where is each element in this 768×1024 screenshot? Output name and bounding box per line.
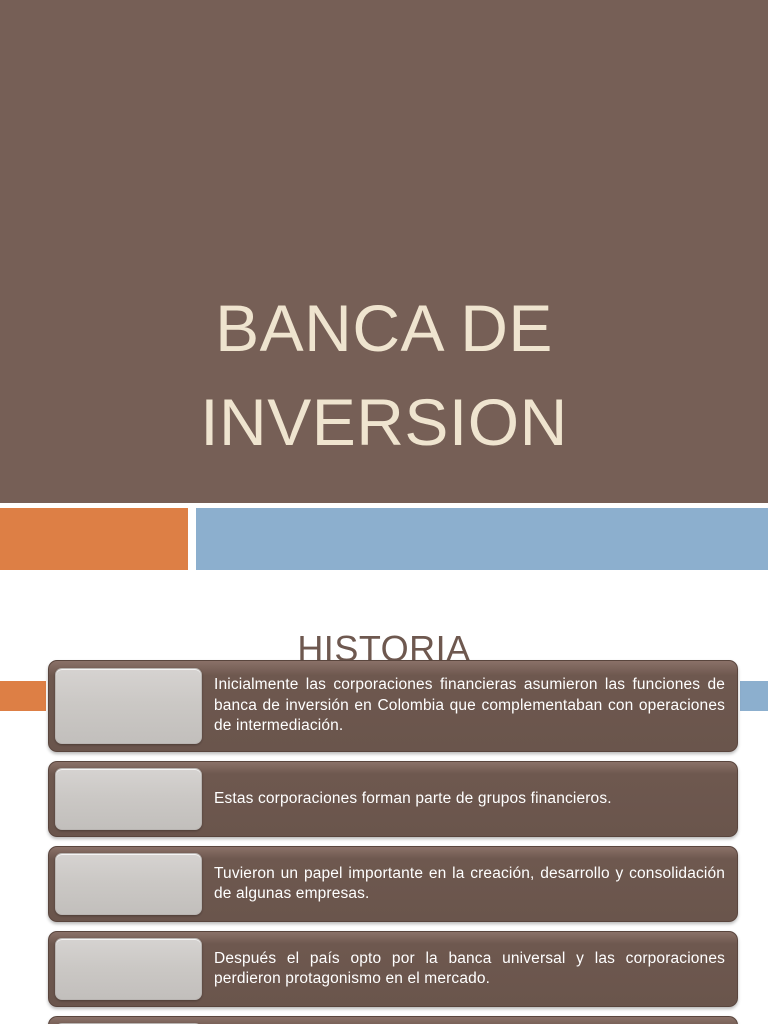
picture-placeholder-icon[interactable] [55, 938, 202, 1000]
presentation-title: BANCA DE INVERSION [0, 282, 768, 469]
list-item[interactable]: Tuvieron un papel importante en la creac… [48, 846, 738, 922]
accent-stub-orange [0, 681, 46, 711]
accent-band-row [0, 508, 768, 570]
list-item[interactable] [48, 1016, 738, 1024]
list-item[interactable]: Inicialmente las corporaciones financier… [48, 660, 738, 752]
title-line-2: INVERSION [60, 376, 708, 470]
accent-band-orange [0, 508, 188, 570]
title-line-1: BANCA DE [60, 282, 708, 376]
title-slide: BANCA DE INVERSION [0, 0, 768, 503]
list-item[interactable]: Estas corporaciones forman parte de grup… [48, 761, 738, 837]
picture-placeholder-icon[interactable] [55, 668, 202, 744]
list-item-text: Inicialmente las corporaciones financier… [214, 675, 727, 736]
smartart-list: Inicialmente las corporaciones financier… [48, 660, 738, 1024]
list-item-text: Después el país opto por la banca univer… [214, 949, 727, 990]
list-item-text: Estas corporaciones forman parte de grup… [214, 789, 727, 809]
accent-stub-blue [740, 681, 768, 711]
picture-placeholder-icon[interactable] [55, 768, 202, 830]
list-item-text: Tuvieron un papel importante en la creac… [214, 864, 727, 905]
list-item[interactable]: Después el país opto por la banca univer… [48, 931, 738, 1007]
accent-band-blue [196, 508, 768, 570]
picture-placeholder-icon[interactable] [55, 853, 202, 915]
content-slide: HISTORIA Inicialmente las corporaciones … [0, 570, 768, 1024]
